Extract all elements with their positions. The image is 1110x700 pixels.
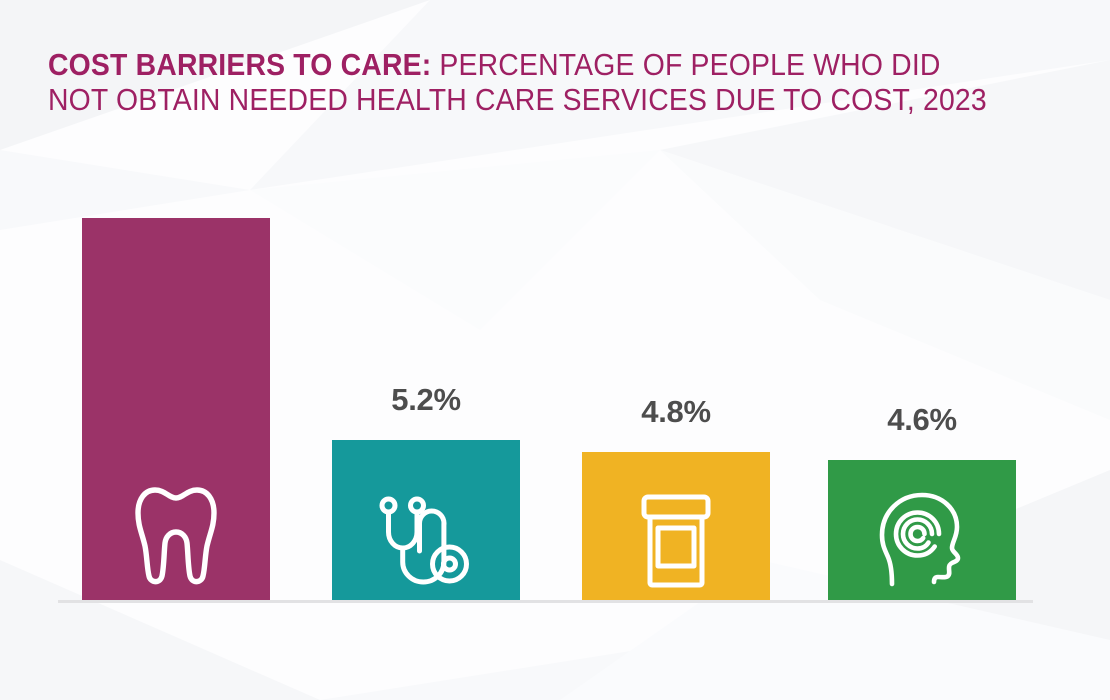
stethoscope-icon bbox=[376, 496, 476, 588]
pill-bottle-icon bbox=[636, 494, 716, 588]
tooth-icon bbox=[133, 484, 219, 588]
bar-mental-health[interactable] bbox=[828, 460, 1016, 600]
bar-chart: 12.7% DENTAL 5.2% bbox=[0, 0, 1110, 700]
infographic-canvas: COST BARRIERS TO CARE: PERCENTAGE OF PEO… bbox=[0, 0, 1110, 700]
bar-value-mental-health: 4.6% bbox=[828, 402, 1016, 438]
chart-baseline bbox=[58, 600, 1033, 603]
bar-value-medical: 5.2% bbox=[332, 382, 520, 418]
bar-medical[interactable] bbox=[332, 440, 520, 600]
bar-dental[interactable] bbox=[82, 218, 270, 600]
head-spiral-icon bbox=[876, 492, 968, 588]
bar-value-prescriptions: 4.8% bbox=[582, 394, 770, 430]
bar-prescriptions[interactable] bbox=[582, 452, 770, 600]
